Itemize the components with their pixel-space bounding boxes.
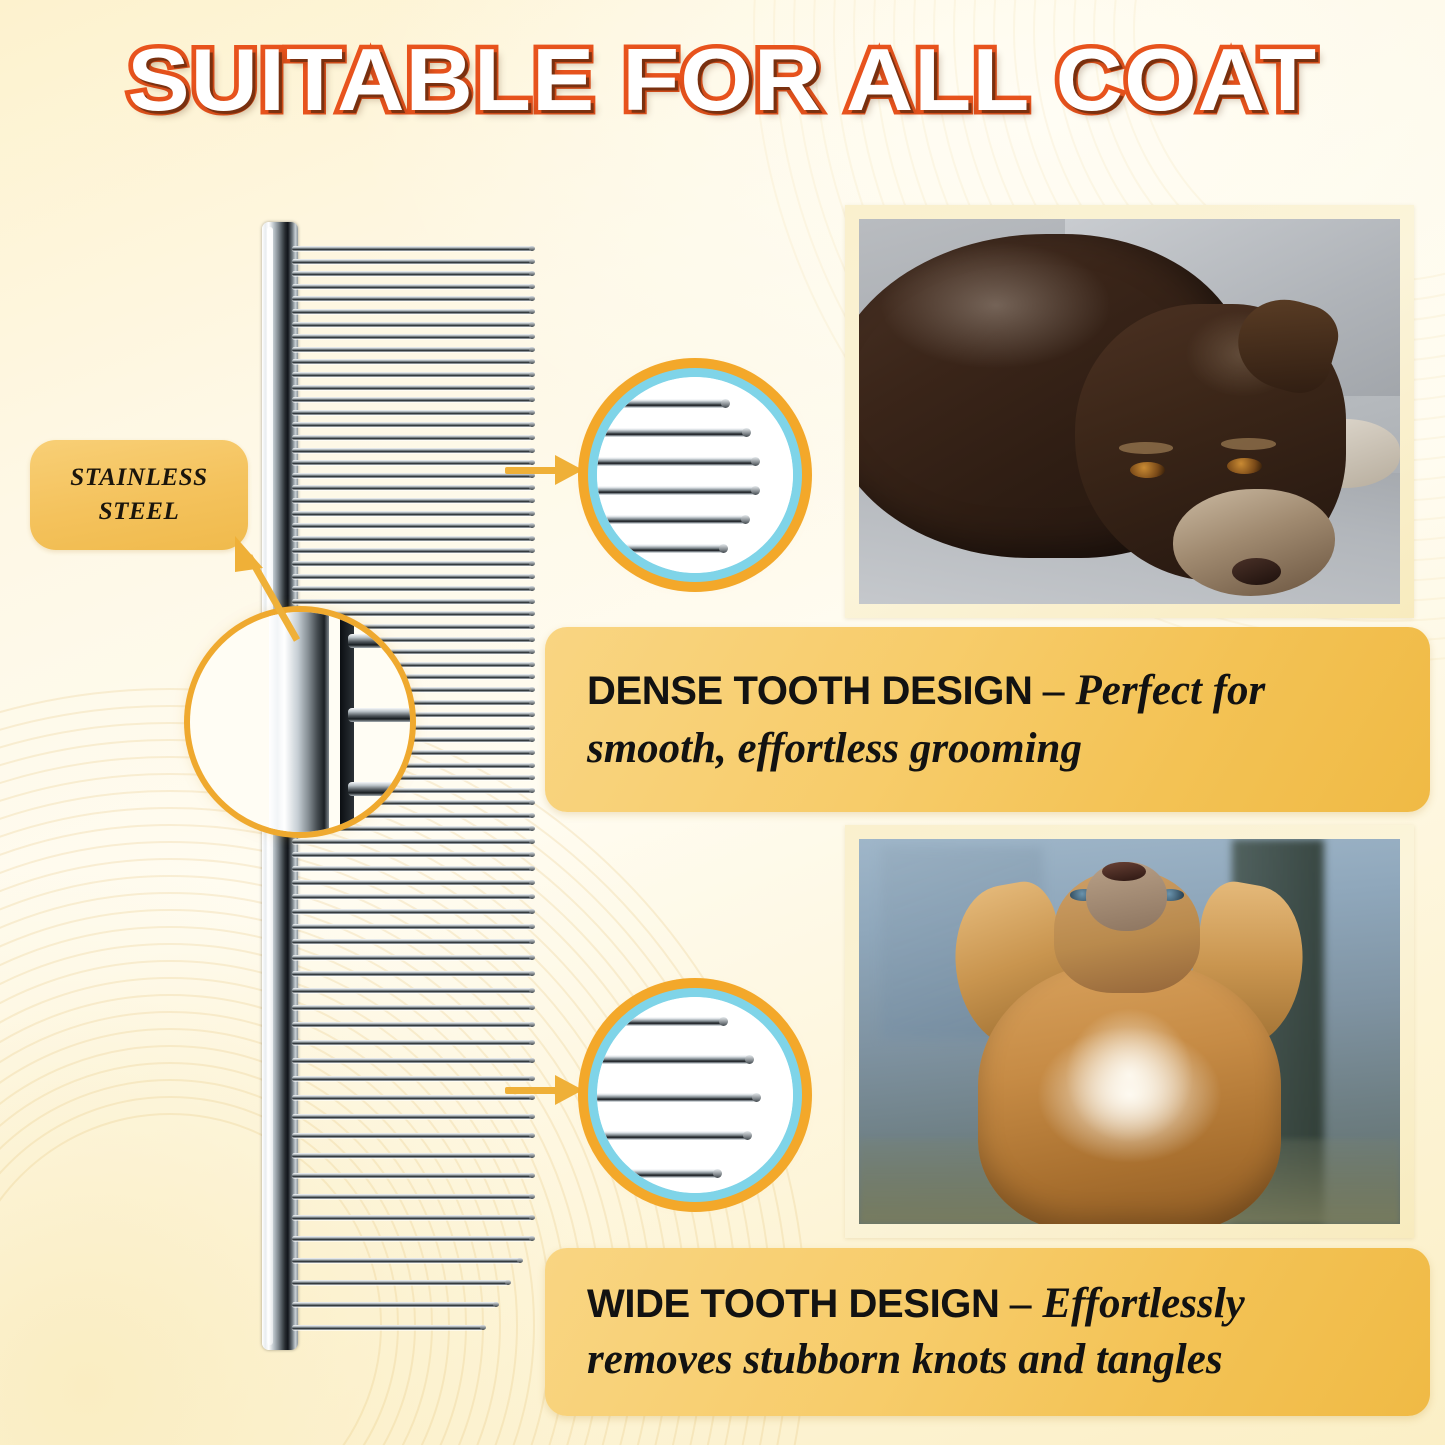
comb-tooth xyxy=(292,448,532,453)
comb-tooth xyxy=(292,561,532,566)
comb-tooth xyxy=(292,246,532,251)
comb-tooth xyxy=(292,1076,532,1081)
stainless-steel-badge-text: STAINLESS STEEL xyxy=(70,461,207,529)
arrow-to-dense-magnifier xyxy=(505,463,585,477)
comb-tooth xyxy=(292,924,532,929)
comb-tooth xyxy=(292,523,532,528)
comb-tooth xyxy=(292,574,532,579)
comb-tooth xyxy=(292,473,532,478)
wide-tooth-callout-text: WIDE TOOTH DESIGN – Effortlessly removes… xyxy=(545,1276,1430,1388)
dense-tooth-callout-text: DENSE TOOTH DESIGN – Perfect for smooth,… xyxy=(545,662,1430,778)
dense-tooth-separator: – xyxy=(1032,667,1075,714)
comb-tooth xyxy=(292,1258,520,1263)
comb-tooth xyxy=(292,385,532,390)
infographic-page: SUITABLE FOR ALL COAT STAINLESS STEEL xyxy=(0,0,1445,1445)
comb-tooth xyxy=(292,511,532,516)
magnified-comb-tooth xyxy=(597,1055,750,1064)
title-banner: SUITABLE FOR ALL COAT xyxy=(0,34,1445,126)
badge-line-1: STAINLESS xyxy=(70,464,207,491)
comb-tooth xyxy=(292,498,532,503)
comb-tooth xyxy=(292,309,532,314)
comb-tooth xyxy=(292,435,532,440)
comb-tooth xyxy=(292,909,532,914)
comb-tooth xyxy=(292,939,532,944)
comb-tooth xyxy=(292,1153,532,1158)
wide-tooth-separator: – xyxy=(999,1280,1042,1327)
dense-tooth-callout: DENSE TOOTH DESIGN – Perfect for smooth,… xyxy=(545,627,1430,812)
comb-tooth xyxy=(292,410,532,415)
comb-tooth xyxy=(292,296,532,301)
comb-tooth xyxy=(292,1325,483,1330)
comb-tooth xyxy=(292,852,532,857)
dense-tooth-magnifier xyxy=(597,377,793,573)
wide-tooth-headline: WIDE TOOTH DESIGN xyxy=(587,1282,999,1326)
spine-closeup-tooth xyxy=(348,634,410,648)
comb-tooth xyxy=(292,1133,532,1138)
comb-tooth xyxy=(292,1022,532,1027)
magnified-comb-tooth xyxy=(597,399,726,408)
comb-tooth xyxy=(292,971,532,976)
comb-tooth xyxy=(292,586,532,591)
wide-tooth-magnifier-content xyxy=(597,997,793,1193)
page-title: SUITABLE FOR ALL COAT xyxy=(128,34,1318,126)
comb-tooth xyxy=(292,880,532,885)
comb-tooth xyxy=(292,866,532,871)
comb-tooth xyxy=(292,259,532,264)
dense-tooth-magnifier-content xyxy=(597,377,793,573)
badge-line-2: STEEL xyxy=(99,498,180,525)
comb-tooth xyxy=(292,284,532,289)
magnified-comb-tooth xyxy=(597,1017,724,1026)
magnified-comb-tooth xyxy=(597,428,747,437)
dense-tooth-headline: DENSE TOOTH DESIGN xyxy=(587,669,1032,713)
comb-tooth xyxy=(292,1302,496,1307)
magnified-comb-tooth xyxy=(597,1169,718,1178)
comb-tooth xyxy=(292,1005,532,1010)
comb-tooth xyxy=(292,955,532,960)
photo-longhair-dachshund xyxy=(845,825,1414,1238)
comb-tooth xyxy=(292,485,532,490)
comb-tooth xyxy=(292,1058,532,1063)
comb-tooth xyxy=(292,372,532,377)
photo-chocolate-collie-image xyxy=(859,219,1400,604)
comb-tooth xyxy=(292,397,532,402)
comb-tooth xyxy=(292,536,532,541)
comb-tooth xyxy=(292,347,532,352)
comb-tooth xyxy=(292,460,532,465)
spine-closeup-teeth xyxy=(348,612,410,832)
comb-tooth xyxy=(292,422,532,427)
spine-closeup-tooth xyxy=(348,782,410,796)
comb-tooth xyxy=(292,322,532,327)
comb-tooth xyxy=(292,988,532,993)
wide-tooth-magnifier xyxy=(597,997,793,1193)
comb-tooth xyxy=(292,1173,532,1178)
comb-tooth xyxy=(292,1040,532,1045)
comb-tooth xyxy=(292,839,532,844)
magnified-comb-tooth xyxy=(597,486,756,495)
comb-tooth xyxy=(292,359,532,364)
comb-tooth xyxy=(292,1215,532,1220)
comb-tooth xyxy=(292,894,532,899)
comb-tooth xyxy=(292,271,532,276)
arrow-to-stainless-badge xyxy=(205,528,325,648)
comb-tooth xyxy=(292,599,532,604)
comb-tooth xyxy=(292,334,532,339)
spine-closeup-tooth xyxy=(348,708,410,722)
comb-tooth xyxy=(292,1095,532,1100)
magnified-comb-tooth xyxy=(597,457,756,466)
photo-chocolate-collie xyxy=(845,205,1414,618)
magnified-comb-tooth xyxy=(597,1093,757,1102)
photo-longhair-dachshund-image xyxy=(859,839,1400,1224)
magnified-comb-tooth xyxy=(597,544,724,553)
comb-tooth xyxy=(292,1194,532,1199)
comb-tooth xyxy=(292,1114,532,1119)
arrow-to-wide-magnifier xyxy=(505,1083,585,1097)
comb-tooth xyxy=(292,1236,532,1241)
comb-tooth xyxy=(292,548,532,553)
magnified-comb-tooth xyxy=(597,1131,748,1140)
magnified-comb-tooth xyxy=(597,515,746,524)
wide-tooth-callout: WIDE TOOTH DESIGN – Effortlessly removes… xyxy=(545,1248,1430,1416)
comb-tooth xyxy=(292,1280,508,1285)
